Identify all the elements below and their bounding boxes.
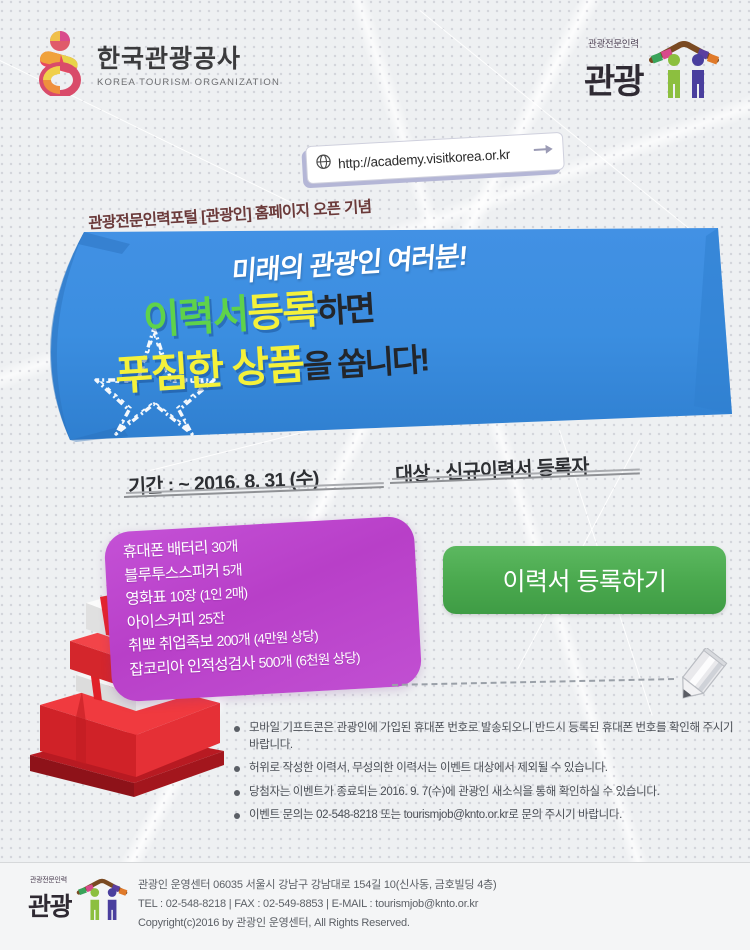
kto-logo: 한국관광공사 KOREA TOURISM ORGANIZATION: [34, 30, 280, 96]
bullet-icon: [234, 766, 240, 772]
prize-qty: 25잔: [198, 609, 225, 626]
footer-logo-main: 관광: [28, 887, 71, 923]
notice-item: 당첨자는 이벤트가 종료되는 2016. 9. 7(수)에 관광인 새소식을 통…: [234, 784, 734, 801]
prize-name: 휴대폰 배터리: [122, 539, 208, 561]
prize-qty: 30개: [211, 538, 238, 555]
footer-logo-sub: 관광전문인력: [30, 875, 67, 885]
prize-qty: 5개: [222, 561, 242, 578]
bullet-icon: [234, 790, 240, 796]
kto-logo-text: 한국관광공사 KOREA TOURISM ORGANIZATION: [97, 39, 280, 88]
prize-qty: 500개: [258, 652, 292, 670]
blue-ribbon-banner: [18, 228, 732, 443]
footer-people-icon: [76, 875, 128, 923]
notice-text: 허위로 작성한 이력서, 무성의한 이력서는 이벤트 대상에서 제외될 수 있습…: [249, 760, 608, 777]
register-resume-button[interactable]: 이력서 등록하기: [443, 546, 726, 614]
notice-text: 당첨자는 이벤트가 종료되는 2016. 9. 7(수)에 관광인 새소식을 통…: [249, 784, 659, 801]
go-arrow-icon[interactable]: [533, 142, 554, 161]
prize-name: 블루투스스피커: [124, 562, 220, 584]
notice-list: 모바일 기프트콘은 관광인에 가입된 휴대폰 번호로 발송되오니 반드시 등록된…: [234, 720, 734, 831]
prize-note: (1인 2매): [199, 585, 247, 603]
prize-qty: 200개: [216, 631, 250, 649]
notice-item: 이벤트 문의는 02-548-8218 또는 tourismjob@knto.o…: [234, 807, 734, 824]
kto-name-en: KOREA TOURISM ORGANIZATION: [97, 77, 280, 88]
notice-text: 모바일 기프트콘은 관광인에 가입된 휴대폰 번호로 발송되오니 반드시 등록된…: [249, 720, 734, 753]
prize-name: 영화표: [125, 589, 167, 608]
globe-icon: [316, 154, 332, 175]
url-text: http://academy.visitkorea.or.kr: [338, 146, 511, 171]
gwanin-people-icon: [648, 36, 720, 102]
gwanin-logo: 관광전문인력 관광: [580, 32, 720, 104]
prize-speech-bubble: 휴대폰 배터리 30개 블루투스스피커 5개 영화표 10장 (1인 2매) 아…: [108, 524, 418, 694]
promo-page: 한국관광공사 KOREA TOURISM ORGANIZATION 관광전문인력…: [0, 0, 750, 950]
prize-name: 잡코리아 인적성검사: [129, 655, 255, 679]
bullet-icon: [234, 813, 240, 819]
footer-info: 관광인 운영센터 06035 서울시 강남구 강남대로 154길 10(신사동,…: [138, 876, 497, 933]
banner-footer-info: 기간 : ~ 2016. 8. 31 (수) 대상 : 신규이력서 등록자: [0, 452, 750, 498]
pencil-icon: [664, 648, 736, 708]
bullet-icon: [234, 726, 240, 732]
prize-note: (6천원 상당): [295, 650, 360, 669]
page-footer: 관광전문인력 관광 관광인 운영센터 06035 서울시 강남구 강남대로 15…: [0, 863, 750, 950]
prize-note: (4만원 상당): [253, 628, 318, 647]
prize-name: 아이스커피: [126, 611, 195, 632]
gwanin-logo-sub: 관광전문인력: [588, 36, 639, 50]
url-bar[interactable]: http://academy.visitkorea.or.kr: [305, 132, 565, 184]
footer-copyright: Copyright(c)2016 by 관광인 운영센터, All Rights…: [138, 914, 497, 933]
footer-contact: TEL : 02-548-8218 | FAX : 02-549-8853 | …: [138, 895, 497, 914]
prize-name: 취뽀 취업족보: [128, 633, 214, 655]
gwanin-logo-main: 관광: [584, 54, 643, 103]
notice-text: 이벤트 문의는 02-548-8218 또는 tourismjob@knto.o…: [249, 807, 622, 824]
kto-symbol-icon: [34, 30, 86, 96]
prize-list: 휴대폰 배터리 30개 블루투스스피커 5개 영화표 10장 (1인 2매) 아…: [122, 525, 419, 682]
footer-address: 관광인 운영센터 06035 서울시 강남구 강남대로 154길 10(신사동,…: [138, 876, 497, 895]
dashed-connector: [392, 678, 674, 686]
notice-item: 허위로 작성한 이력서, 무성의한 이력서는 이벤트 대상에서 제외될 수 있습…: [234, 760, 734, 777]
prize-qty: 10장: [169, 587, 196, 604]
notice-item: 모바일 기프트콘은 관광인에 가입된 휴대폰 번호로 발송되오니 반드시 등록된…: [234, 720, 734, 753]
kto-name-ko: 한국관광공사: [97, 39, 280, 75]
footer-gwanin-logo: 관광전문인력 관광: [26, 873, 126, 931]
